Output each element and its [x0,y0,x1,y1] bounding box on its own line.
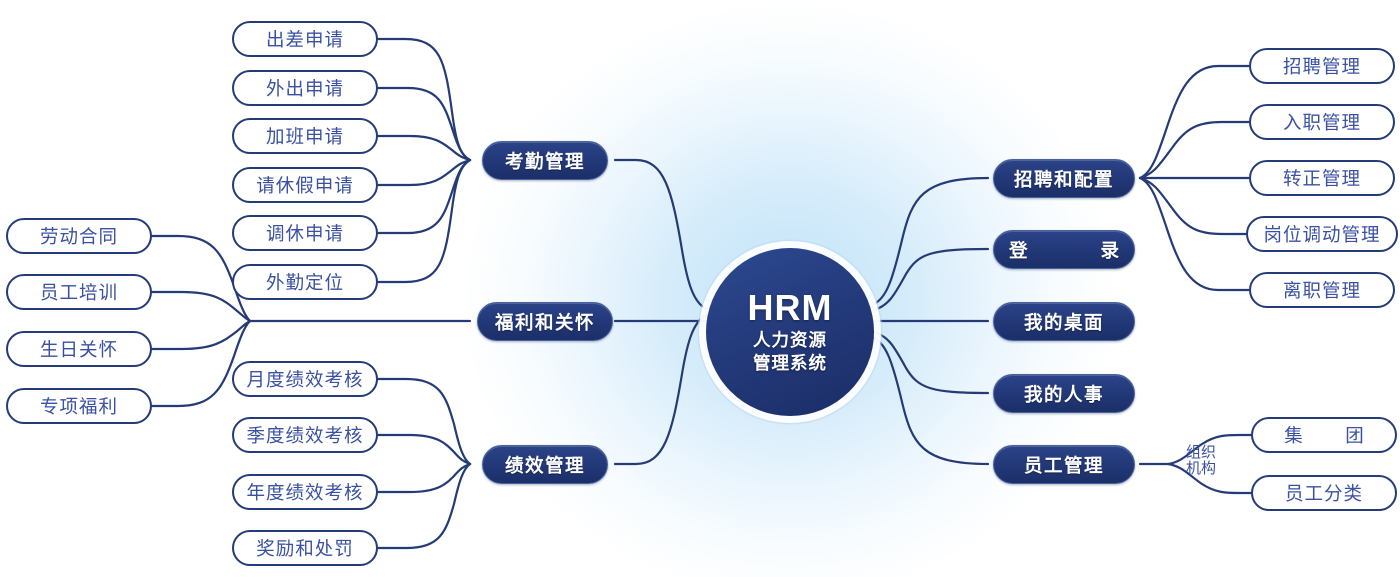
node-attendance-child-6[interactable]: 外勤定位 [232,264,378,300]
wire-performance-child-3 [378,464,470,492]
wire-performance-child-1 [378,379,470,464]
wire-welfare-child-3 [152,321,250,349]
node-welfare-child-1[interactable]: 劳动合同 [6,218,152,254]
wire-center-to-staff [874,338,988,464]
node-label: 奖励和处罚 [256,535,354,561]
node-welfare-child-2[interactable]: 员工培训 [6,274,152,310]
node-attendance-child-4[interactable]: 请休假申请 [232,167,378,203]
node-label: 请休假申请 [256,172,354,198]
wire-performance-child-4 [378,464,470,548]
node-label: 招聘管理 [1283,53,1361,79]
node-label: 我的桌面 [1024,309,1104,335]
node-label: 入职管理 [1283,109,1361,135]
node-label: 劳动合同 [40,223,118,249]
node-label: 考勤管理 [505,148,585,174]
center-line-1: 人力资源 [753,329,827,352]
node-recruit-child-5[interactable]: 离职管理 [1249,272,1395,308]
node-label: 专项福利 [40,393,118,419]
node-label: 福利和关怀 [495,309,595,335]
node-performance-child-1[interactable]: 月度绩效考核 [232,361,378,397]
node-label: 出差申请 [266,26,344,52]
node-attendance-child-1[interactable]: 出差申请 [232,21,378,57]
wire-recruit-child-4 [1140,178,1249,234]
node-label: 调休申请 [266,220,344,246]
node-label: 员工管理 [1024,452,1104,478]
center-line-2: 管理系统 [753,352,827,375]
node-label: 离职管理 [1283,277,1361,303]
node-branch-recruit[interactable]: 招聘和配置 [993,159,1135,198]
node-label: 岗位调动管理 [1263,221,1380,247]
wire-recruit-child-2 [1140,122,1249,178]
center-abbr: HRM [748,289,833,327]
wire-performance-to-center [615,315,706,464]
wire-attendance-to-center [615,160,706,309]
node-branch-staff[interactable]: 员工管理 [993,445,1135,484]
edge-label-line-1: 组织 [1181,445,1221,461]
node-label: 外勤定位 [266,269,344,295]
edge-label-organization: 组织 机构 [1181,445,1221,477]
node-branch-attendance[interactable]: 考勤管理 [482,141,608,180]
node-staff-child-2[interactable]: 员工分类 [1251,475,1397,511]
node-recruit-child-3[interactable]: 转正管理 [1249,160,1395,196]
node-label: 绩效管理 [505,452,585,478]
node-attendance-child-2[interactable]: 外出申请 [232,70,378,106]
node-label: 年度绩效考核 [246,479,363,505]
node-branch-desktop[interactable]: 我的桌面 [993,302,1135,341]
node-branch-login[interactable]: 登 录 [993,230,1135,269]
node-performance-child-2[interactable]: 季度绩效考核 [232,417,378,453]
center-node-hrm[interactable]: HRM 人力资源 管理系统 [706,248,874,416]
node-label: 加班申请 [266,123,344,149]
node-branch-welfare[interactable]: 福利和关怀 [477,302,613,341]
wire-attendance-child-2 [378,88,470,160]
node-label: 招聘和配置 [1014,166,1114,192]
node-recruit-child-2[interactable]: 入职管理 [1249,104,1395,140]
node-label: 登 录 [997,237,1131,263]
node-label: 生日关怀 [40,336,118,362]
node-recruit-child-4[interactable]: 岗位调动管理 [1246,216,1398,252]
wire-center-to-recruit [874,178,988,304]
node-attendance-child-3[interactable]: 加班申请 [232,118,378,154]
node-label: 转正管理 [1283,165,1361,191]
wire-performance-child-2 [378,435,470,464]
node-performance-child-4[interactable]: 奖励和处罚 [232,530,378,566]
node-label: 员工分类 [1285,480,1363,506]
mindmap-canvas: 出差申请 外出申请 加班申请 请休假申请 调休申请 外勤定位 劳动合同 员工培训… [0,0,1400,577]
node-welfare-child-3[interactable]: 生日关怀 [6,331,152,367]
node-label: 我的人事 [1024,381,1104,407]
node-label: 外出申请 [266,75,344,101]
node-label: 员工培训 [40,279,118,305]
node-performance-child-3[interactable]: 年度绩效考核 [232,474,378,510]
node-attendance-child-5[interactable]: 调休申请 [232,215,378,251]
node-staff-child-1[interactable]: 集 团 [1251,417,1397,453]
wire-attendance-child-5 [378,160,470,233]
node-branch-myhr[interactable]: 我的人事 [993,374,1135,413]
node-label: 集 团 [1272,422,1376,448]
edge-label-line-2: 机构 [1181,461,1221,477]
connector-layer [0,0,1400,577]
node-welfare-child-4[interactable]: 专项福利 [6,388,152,424]
node-label: 月度绩效考核 [246,366,363,392]
node-branch-performance[interactable]: 绩效管理 [482,445,608,484]
node-label: 季度绩效考核 [246,422,363,448]
node-recruit-child-1[interactable]: 招聘管理 [1249,48,1395,84]
wire-welfare-child-2 [152,292,250,321]
